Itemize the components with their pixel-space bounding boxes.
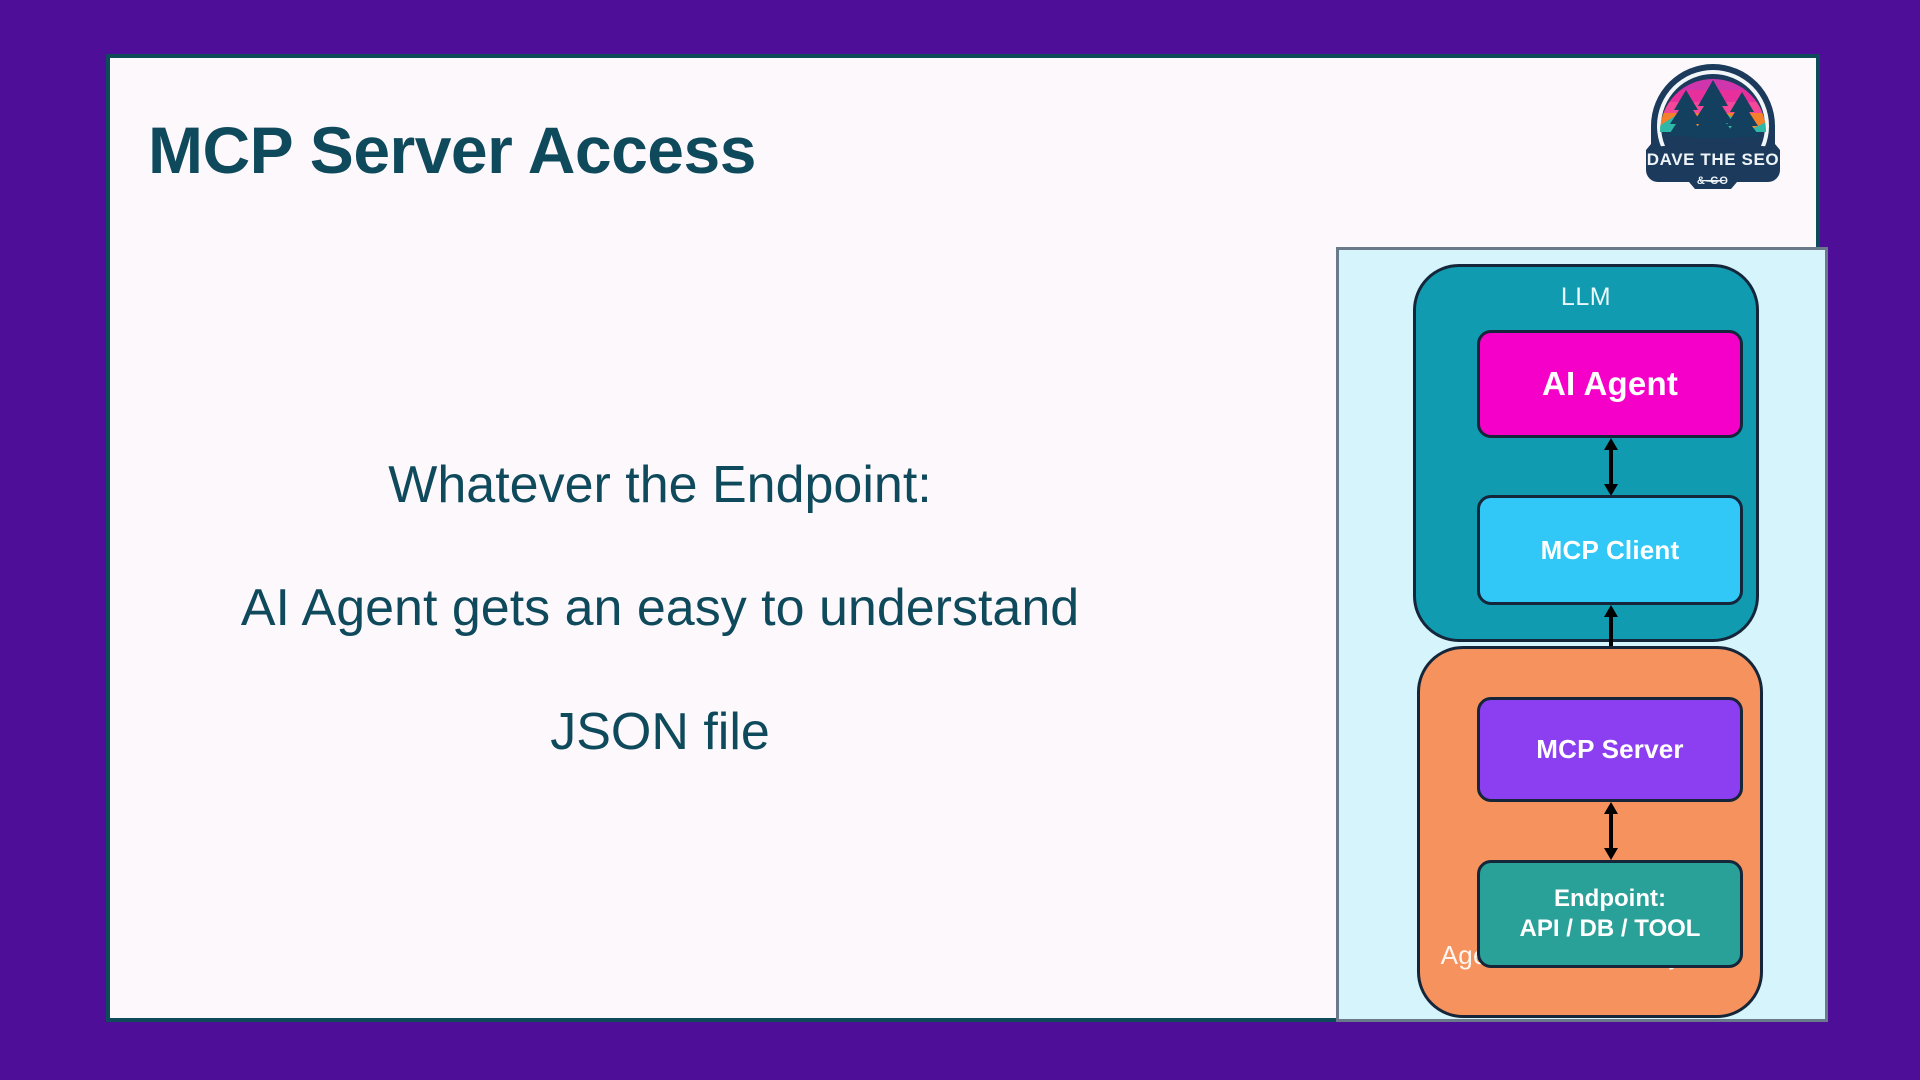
logo-primary-text: DAVE THE SEO [1647, 150, 1780, 169]
body-line-1: Whatever the Endpoint: [130, 455, 1190, 516]
diagram-node-ai-agent-label: AI Agent [1542, 365, 1678, 403]
diagram-node-llm-label: LLM [1416, 283, 1756, 312]
logo-svg: DAVE THE SEO & CO [1638, 58, 1788, 190]
body-line-3: JSON file [130, 702, 1190, 763]
diagram-node-endpoint: Endpoint: API / DB / TOOL [1477, 860, 1743, 968]
connector-agent-to-client-arrow [1599, 438, 1623, 496]
logo-secondary-text: & CO [1697, 175, 1729, 187]
slide-body: Whatever the Endpoint: AI Agent gets an … [130, 455, 1190, 763]
diagram-node-mcp-client-label: MCP Client [1541, 535, 1680, 566]
body-line-2: AI Agent gets an easy to understand [130, 578, 1190, 639]
diagram-node-endpoint-label-line1: Endpoint: [1554, 884, 1666, 914]
page-title: MCP Server Access [148, 112, 756, 188]
connector-server-to-endpoint-arrow [1599, 802, 1623, 860]
diagram-node-mcp-client: MCP Client [1477, 495, 1743, 605]
diagram-node-endpoint-label-line2: API / DB / TOOL [1520, 914, 1701, 944]
diagram-node-ai-agent: AI Agent [1477, 330, 1743, 438]
diagram-node-mcp-server: MCP Server [1477, 697, 1743, 802]
mcp-architecture-diagram: LLM AI Agent MCP Client Agent Accessible… [1336, 247, 1828, 1022]
dave-the-seo-logo: DAVE THE SEO & CO [1638, 58, 1788, 190]
diagram-node-mcp-server-label: MCP Server [1536, 734, 1684, 765]
